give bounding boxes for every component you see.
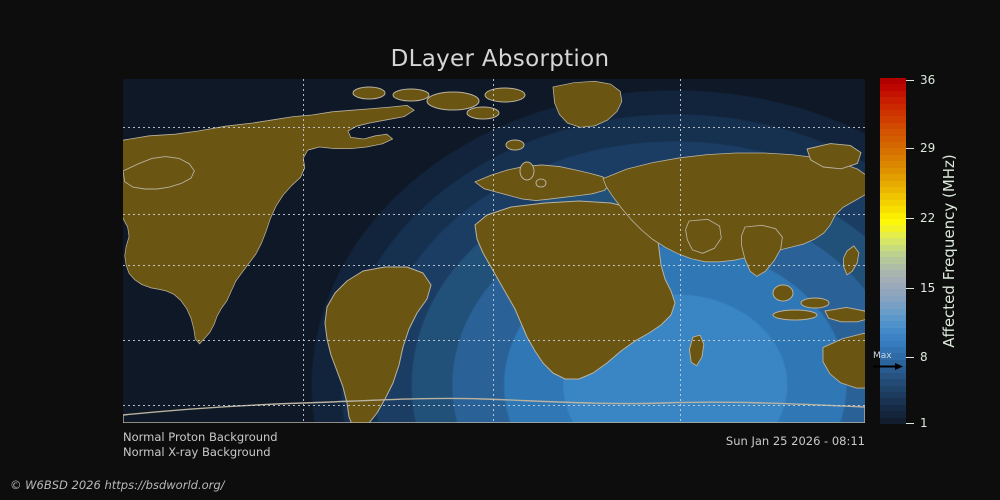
tick-dash: [906, 148, 914, 149]
tick-dash: [906, 423, 914, 424]
max-marker-label: Max: [873, 352, 892, 361]
tick-dash: [906, 288, 914, 289]
colorbar-tick: 36: [906, 74, 935, 86]
tick-label: 29: [920, 141, 935, 155]
colorbar-max-marker: Max: [873, 352, 917, 374]
tick-label: 36: [920, 73, 935, 87]
page-title: DLayer Absorption: [0, 46, 1000, 72]
colorbar-tick: 22: [906, 212, 935, 224]
max-arrow-icon: [873, 363, 903, 370]
gridline-lat-equator: [123, 265, 865, 266]
colorbar-label: Affected Frequency (MHz): [936, 78, 962, 424]
xray-background-note: Normal X-ray Background: [123, 445, 271, 459]
colorbar-band: [880, 418, 906, 424]
proton-background-note: Normal Proton Background: [123, 430, 278, 444]
colorbar-tick: 29: [906, 142, 935, 154]
map-layers: [123, 79, 865, 423]
world-map[interactable]: [123, 79, 865, 423]
gridline-lat-antarctic: [123, 405, 865, 406]
gridline-lon-3: [680, 79, 681, 423]
tick-dash: [906, 80, 914, 81]
gridline-lon-1: [303, 79, 304, 423]
tick-label: 8: [920, 350, 928, 364]
tick-dash: [906, 218, 914, 219]
map-canvas: [123, 79, 865, 423]
timestamp: Sun Jan 25 2026 - 08:11: [726, 434, 865, 448]
colorbar-tick: 15: [906, 282, 935, 294]
app-root: DLayer Absorption: [0, 0, 1000, 500]
tick-label: 22: [920, 211, 935, 225]
gridline-lat-capricorn: [123, 340, 865, 341]
colorbar-tick: 1: [906, 417, 928, 429]
tick-label: 1: [920, 416, 928, 430]
copyright-notice: © W6BSD 2026 https://bsdworld.org/: [10, 478, 225, 492]
tick-label: 15: [920, 281, 935, 295]
gridline-lat-cancer: [123, 214, 865, 215]
gridline-lon-2: [493, 79, 494, 423]
gridline-lat-arctic: [123, 127, 865, 128]
